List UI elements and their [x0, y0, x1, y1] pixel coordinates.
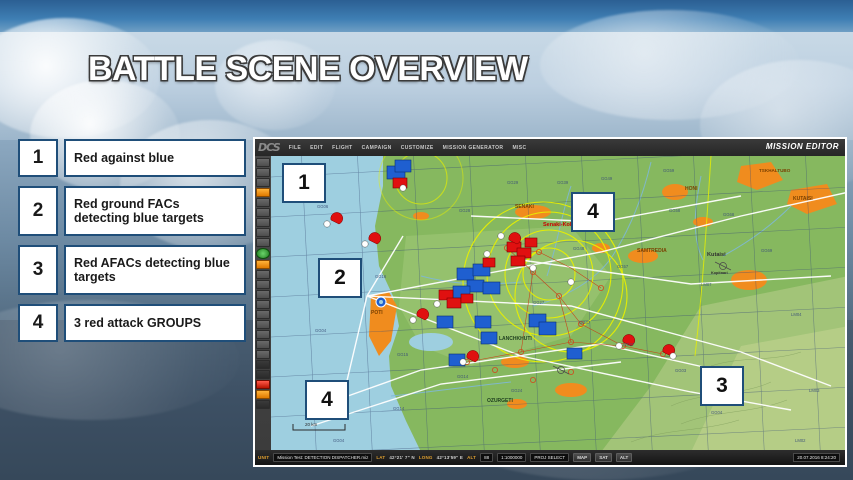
svg-text:GG04: GG04 [315, 328, 327, 333]
briefing-tool-icon[interactable] [256, 280, 270, 289]
menu-item-edit[interactable]: EDIT [310, 145, 323, 151]
svg-text:GG04: GG04 [333, 438, 345, 443]
svg-text:POTI: POTI [371, 310, 383, 316]
map-callout-3: 3 [700, 366, 744, 406]
svg-text:GG06: GG06 [317, 204, 329, 209]
editor-status-bar: UNIT Mission Test: DETECTION DISPATCHER.… [255, 450, 845, 465]
svg-text:GG14: GG14 [393, 406, 405, 411]
save-mission-icon[interactable] [256, 178, 270, 187]
legend-list: 1 Red against blue 2 Red ground FACs det… [18, 139, 246, 351]
helicopter-tool-icon[interactable] [256, 208, 270, 217]
svg-text:TSKHALTUBO: TSKHALTUBO [759, 168, 791, 173]
status-projection-select[interactable]: PROJ SELECT [530, 453, 569, 462]
status-unit-key: UNIT [258, 455, 269, 460]
svg-text:LM03: LM03 [809, 388, 820, 393]
sat-view-button[interactable]: SAT [595, 453, 612, 462]
misc-tool-icon[interactable] [256, 400, 270, 409]
legend-label: Red ground FACs detecting blue targets [64, 186, 246, 236]
svg-text:GG68: GG68 [723, 212, 735, 217]
mission-editor-title: MISSION EDITOR [766, 142, 839, 151]
legend-label: Red against blue [64, 139, 246, 177]
svg-text:GG48: GG48 [573, 246, 585, 251]
map-callout-1: 1 [282, 163, 326, 203]
svg-text:SENAKI: SENAKI [515, 204, 535, 210]
map-layers-icon[interactable] [256, 360, 270, 369]
svg-text:GG27: GG27 [533, 300, 545, 305]
failures-tool-icon[interactable] [256, 300, 270, 309]
menu-item-file[interactable]: FILE [289, 145, 301, 151]
svg-text:GG15: GG15 [397, 352, 409, 357]
svg-text:GG49: GG49 [601, 176, 613, 181]
svg-text:GG28: GG28 [459, 208, 471, 213]
svg-text:GG14: GG14 [457, 374, 469, 379]
airplane-tool-icon[interactable] [256, 198, 270, 207]
coalition-red-icon[interactable] [256, 188, 270, 197]
status-alt-key: ALT [467, 455, 476, 460]
alt-view-button[interactable]: ALT [616, 453, 632, 462]
svg-text:GG16: GG16 [375, 274, 387, 279]
ship-tool-icon[interactable] [256, 218, 270, 227]
trigger-tool-icon[interactable] [256, 248, 270, 259]
status-lat-key: LAT [376, 455, 385, 460]
legend-item-2: 2 Red ground FACs detecting blue targets [18, 186, 246, 236]
payload-tool-icon[interactable] [256, 310, 270, 319]
svg-text:HONI: HONI [685, 186, 698, 192]
vehicle-tool-icon[interactable] [256, 228, 270, 237]
record-toggle-icon[interactable] [256, 380, 270, 389]
svg-text:GG69: GG69 [761, 248, 773, 253]
legend-number: 1 [18, 139, 58, 177]
map-graphics: 20 km GG06 GG05 GG04 GG16 GG15GG14 GG24G… [271, 156, 847, 452]
weather-tool-icon[interactable] [256, 270, 270, 279]
zoom-in-icon[interactable] [256, 370, 270, 379]
svg-text:GG59: GG59 [663, 168, 675, 173]
svg-text:LANCHKHUTI: LANCHKHUTI [499, 336, 532, 342]
menu-item-flight[interactable]: FLIGHT [332, 145, 352, 151]
svg-text:Kopitnari: Kopitnari [711, 271, 728, 275]
map-view-button[interactable]: MAP [573, 453, 591, 462]
trigger-zone-icon[interactable] [256, 260, 270, 269]
status-long-value: 42°13'59" E [437, 455, 463, 460]
map-callout-4: 4 [571, 192, 615, 232]
svg-text:GG03: GG03 [675, 368, 687, 373]
menu-item-customize[interactable]: CUSTOMIZE [401, 145, 434, 151]
svg-text:OZURGETI: OZURGETI [487, 398, 513, 404]
status-timestamp: 20.07.2016 8:24:20 [793, 453, 840, 462]
measure-tool-icon[interactable] [256, 330, 270, 339]
svg-text:Kutaisi: Kutaisi [707, 252, 726, 258]
svg-text:LM04: LM04 [791, 312, 802, 317]
open-mission-icon[interactable] [256, 168, 270, 177]
new-mission-icon[interactable] [256, 158, 270, 167]
static-object-icon[interactable] [256, 238, 270, 247]
legend-number: 3 [18, 245, 58, 295]
status-lat-value: 42°21' 7" N [389, 455, 414, 460]
svg-text:GG58: GG58 [669, 208, 681, 213]
options-tool-icon[interactable] [256, 290, 270, 299]
map-callout-4b: 4 [305, 380, 349, 420]
status-mission-name: Mission Test: DETECTION DISPATCHER.miz [273, 453, 372, 462]
svg-text:GG29: GG29 [507, 180, 519, 185]
map-callout-2: 2 [318, 258, 362, 298]
svg-text:LM07: LM07 [701, 282, 712, 287]
svg-text:GG47: GG47 [623, 342, 635, 347]
status-scale-value: 1:1000000 [497, 453, 526, 462]
menu-item-campaign[interactable]: CAMPAIGN [362, 145, 392, 151]
legend-item-3: 3 Red AFACs detecting blue targets [18, 245, 246, 295]
status-long-key: LONG [419, 455, 433, 460]
legend-item-4: 4 3 red attack GROUPS [18, 304, 246, 342]
editor-left-toolbar [255, 156, 271, 452]
svg-text:GG39: GG39 [557, 180, 569, 185]
svg-text:KUTAISI: KUTAISI [793, 196, 813, 202]
svg-text:LM02: LM02 [795, 438, 806, 443]
status-alt-value: 88 [480, 453, 493, 462]
warning-toggle-icon[interactable] [256, 390, 270, 399]
legend-number: 4 [18, 304, 58, 342]
legend-label: 3 red attack GROUPS [64, 304, 246, 342]
legend-item-1: 1 Red against blue [18, 139, 246, 177]
menu-item-mission-generator[interactable]: MISSION GENERATOR [443, 145, 504, 151]
svg-text:SAMTREDIA: SAMTREDIA [637, 248, 667, 254]
legend-label: Red AFACs detecting blue targets [64, 245, 246, 295]
svg-text:GG37: GG37 [579, 320, 591, 325]
waypoint-tool-icon[interactable] [256, 320, 270, 329]
menu-bar: DCS FILE EDIT FLIGHT CAMPAIGN CUSTOMIZE … [255, 139, 845, 156]
menu-item-misc[interactable]: MISC [512, 145, 526, 151]
svg-text:GG57: GG57 [617, 264, 629, 269]
map-canvas[interactable]: 20 km GG06 GG05 GG04 GG16 GG15GG14 GG24G… [271, 156, 847, 452]
page-title: BATTLE SCENE OVERVIEW [88, 50, 528, 89]
dcs-logo: DCS [258, 141, 280, 154]
grid-toggle-icon[interactable] [256, 350, 270, 359]
legend-number: 2 [18, 186, 58, 236]
svg-text:GG24: GG24 [511, 388, 523, 393]
svg-text:20 km: 20 km [305, 422, 318, 427]
ruler-tool-icon[interactable] [256, 340, 270, 349]
svg-text:GG04: GG04 [711, 410, 723, 415]
